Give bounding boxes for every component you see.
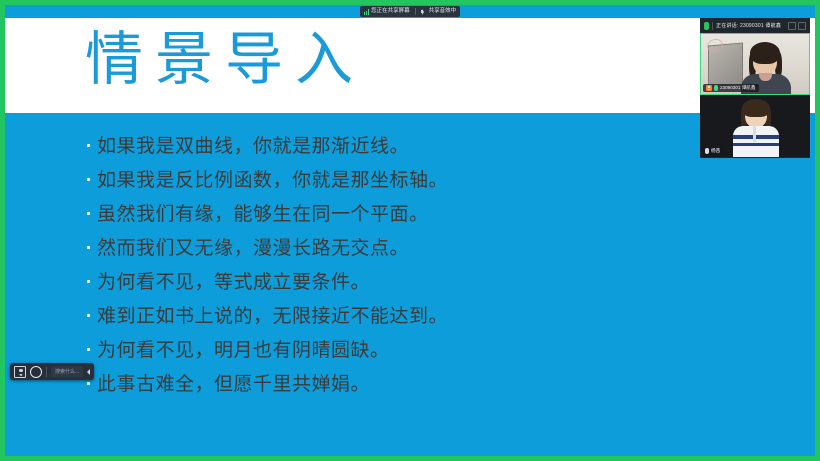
participant-name-label: 23090301 谭航鑫	[720, 85, 756, 91]
list-item: 为何看不见，等式成立要条件。	[87, 267, 815, 301]
video-panel-window-controls[interactable]	[788, 22, 806, 30]
list-item-label: 难到正如书上说的，无限接近不能达到。	[97, 301, 448, 328]
list-item: 如果我是反比例函数，你就是那坐标轴。	[87, 165, 815, 199]
divider	[415, 8, 416, 15]
list-item-label: 为何看不见，明月也有阴晴圆缺。	[97, 335, 390, 362]
screen-share-status-pill[interactable]: 您正在共享屏幕 共享音效中	[360, 6, 460, 17]
signal-bars-icon	[364, 9, 369, 15]
bullet-dot-icon	[87, 280, 90, 283]
video-tile[interactable]: 23090301 谭航鑫	[700, 33, 810, 95]
page-title: 情景导入	[85, 30, 365, 88]
floating-mini-toolbar[interactable]: 搜索什么...	[10, 363, 94, 380]
list-item-label: 如果我是反比例函数，你就是那坐标轴。	[97, 165, 448, 192]
sharing-status-group: 您正在共享屏幕	[364, 9, 410, 15]
presenter-view-icon[interactable]	[14, 366, 26, 378]
list-item: 此事古难全，但愿千里共婵娟。	[87, 369, 815, 403]
speaker-icon	[421, 9, 427, 15]
bullet-dot-icon	[87, 178, 90, 181]
minimize-icon[interactable]	[788, 22, 796, 30]
bullet-dot-icon	[87, 212, 90, 215]
list-item: 然而我们又无缘，漫漫长路无交点。	[87, 233, 815, 267]
bullet-dot-icon	[87, 348, 90, 351]
list-item-label: 此事古难全，但愿千里共婵娟。	[97, 369, 370, 396]
slide-title-band: 情景导入	[5, 18, 815, 113]
chevron-left-icon[interactable]	[87, 369, 90, 375]
list-item-label: 如果我是双曲线，你就是那渐近线。	[97, 131, 409, 158]
participant-name-badge: 23090301 谭航鑫	[703, 84, 759, 92]
list-item-label: 虽然我们有缘，能够生在同一个平面。	[97, 199, 429, 226]
list-item: 为何看不见，明月也有阴晴圆缺。	[87, 335, 815, 369]
video-panel-header[interactable]: 正在讲话: 23090301 谭航鑫	[700, 18, 810, 33]
list-item: 虽然我们有缘，能够生在同一个平面。	[87, 199, 815, 233]
list-item: 难到正如书上说的，无限接近不能达到。	[87, 301, 815, 335]
slide-bullet-list: 如果我是双曲线，你就是那渐近线。 如果我是反比例函数，你就是那坐标轴。 虽然我们…	[5, 113, 815, 456]
participant-name-badge: 杨茜	[702, 147, 723, 155]
participant-name-label: 杨茜	[711, 148, 720, 154]
list-item-label: 为何看不见，等式成立要条件。	[97, 267, 370, 294]
bullet-dot-icon	[87, 144, 90, 147]
host-badge-icon	[706, 85, 712, 91]
microphone-muted-icon	[705, 148, 709, 154]
gear-icon[interactable]	[30, 366, 42, 378]
active-speaker-label: 正在讲话: 23090301 谭航鑫	[716, 22, 781, 29]
audio-status-group: 共享音效中	[421, 9, 457, 15]
audio-status-label: 共享音效中	[429, 9, 457, 15]
list-item-label: 然而我们又无缘，漫漫长路无交点。	[97, 233, 409, 260]
bullet-dot-icon	[87, 246, 90, 249]
expand-icon[interactable]	[798, 22, 806, 30]
bullet-dot-icon	[87, 382, 90, 385]
shared-screen-frame: 情景导入 如果我是双曲线，你就是那渐近线。 如果我是反比例函数，你就是那坐标轴。…	[0, 0, 820, 461]
divider	[712, 22, 713, 30]
microphone-on-icon	[714, 85, 718, 91]
presentation-slide: 情景导入 如果我是双曲线，你就是那渐近线。 如果我是反比例函数，你就是那坐标轴。…	[5, 5, 815, 456]
divider	[46, 367, 47, 377]
bullet-dot-icon	[87, 314, 90, 317]
sharing-status-label: 您正在共享屏幕	[371, 9, 410, 15]
video-panel[interactable]: 正在讲话: 23090301 谭航鑫 23090301 谭	[700, 18, 810, 158]
video-tile[interactable]: 杨茜	[700, 95, 810, 157]
screen-share-status-bar: 您正在共享屏幕 共享音效中	[5, 5, 815, 18]
search-input[interactable]: 搜索什么...	[51, 366, 83, 377]
microphone-icon	[704, 22, 709, 30]
